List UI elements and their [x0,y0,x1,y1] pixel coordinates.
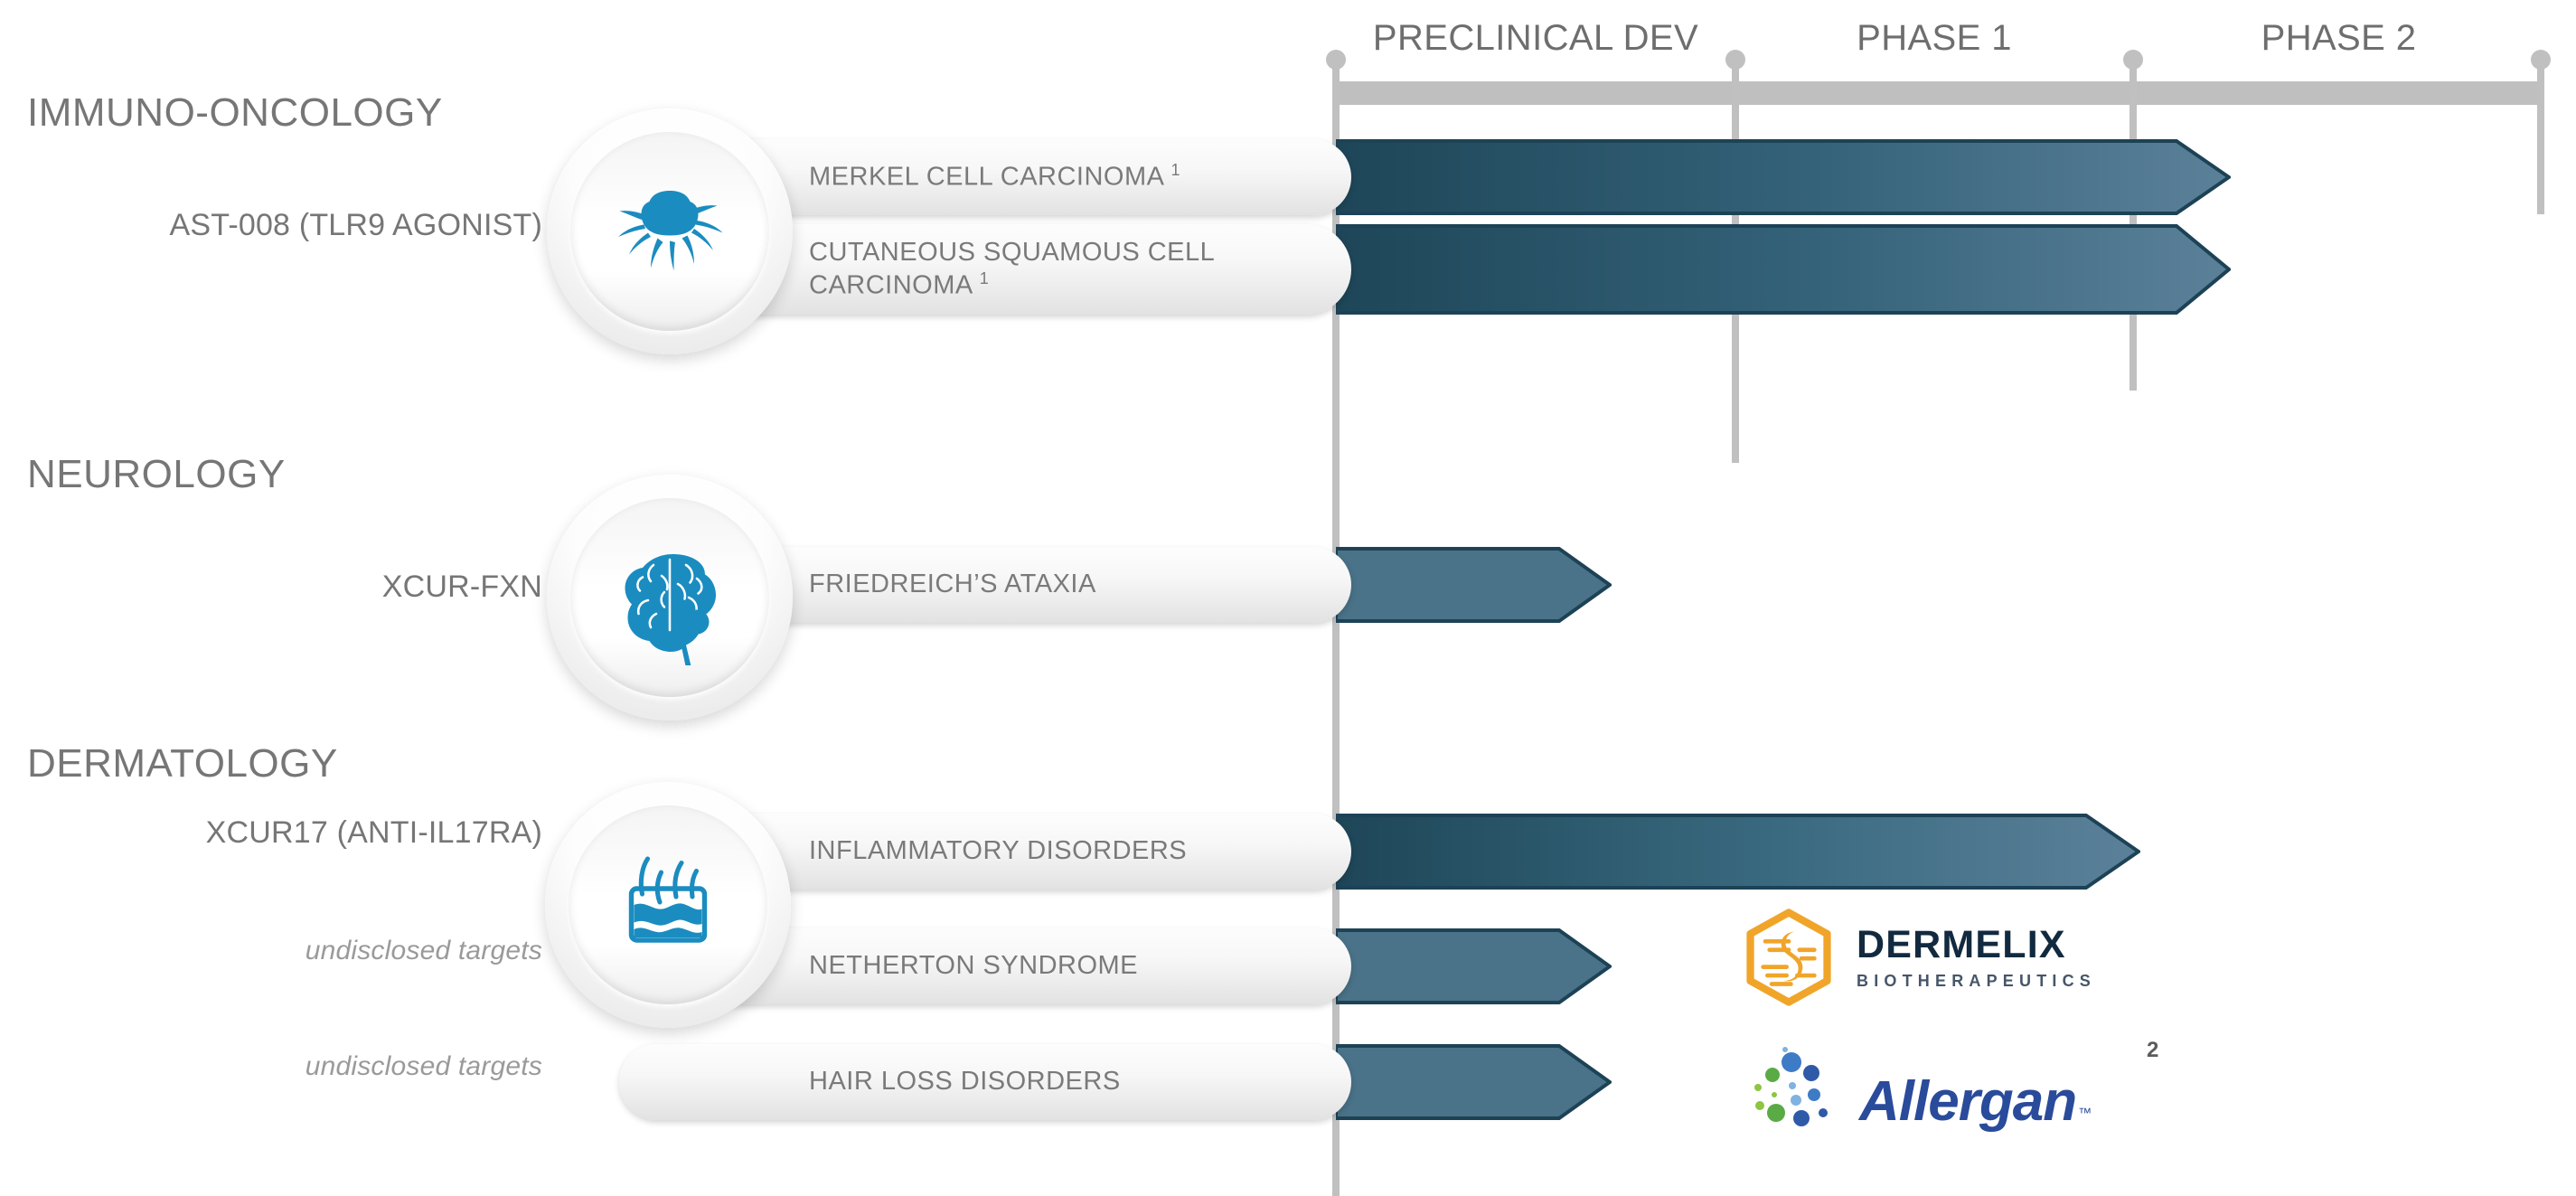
dermelix-name: DERMELIX [1857,926,2096,965]
progress-bar-merkel [1336,139,2231,215]
pipeline-row-hairloss: HAIR LOSS DISORDERS [0,1044,2576,1120]
pipeline-row-netherton: NETHERTON SYNDROME [0,928,2576,1004]
area-title-neurology: NEUROLOGY [27,452,286,497]
partner-logo-dermelix: DERMELIX BIOTHERAPEUTICS [1735,904,2096,1011]
indication-label-merkel: MERKEL CELL CARCINOMA 1 [809,161,1180,193]
pipeline-row-cscc: CUTANEOUS SQUAMOUS CELL CARCINOMA 1 [0,224,2576,315]
indication-pill-hairloss[interactable]: HAIR LOSS DISORDERS [619,1044,1351,1120]
area-title-immuno-oncology: IMMUNO-ONCOLOGY [27,90,443,136]
footnote-marker-allergan: 2 [2147,1038,2158,1063]
pipeline-row-ataxia: FRIEDREICH’S ATAXIA [0,547,2576,623]
gridline-knob-icon [1326,50,1346,70]
gridline-knob-icon [2531,50,2551,70]
indication-label-ataxia: FRIEDREICH’S ATAXIA [809,569,1096,600]
footnote-marker: 1 [980,269,990,287]
pipeline-row-inflammatory: INFLAMMATORY DISORDERS [0,814,2576,890]
phase-track-bar [1336,81,2544,105]
partner-logo-allergan: Allergan ™ [1740,1031,2092,1130]
indication-label-netherton: NETHERTON SYNDROME [809,950,1138,982]
phase-label-phase1: PHASE 1 [1735,16,2133,60]
brain-icon [547,475,793,720]
progress-bar-ataxia [1336,547,1612,623]
allergan-dots-icon [1740,1035,1848,1130]
progress-bar-inflammatory [1336,814,2140,890]
icon-badge-immuno-oncology [547,108,793,354]
progress-bar-netherton [1336,928,1612,1004]
indication-label-cscc: CUTANEOUS SQUAMOUS CELL CARCINOMA 1 [809,237,1215,301]
icon-badge-dermatology [545,782,791,1028]
skin-hair-icon [545,782,791,1028]
phase-label-phase2: PHASE 2 [2133,16,2544,60]
icon-badge-neurology [547,475,793,720]
progress-bar-hairloss [1336,1044,1612,1120]
pipeline-row-merkel: MERKEL CELL CARCINOMA 1 [0,139,2576,215]
area-title-dermatology: DERMATOLOGY [27,741,338,786]
phase-label-preclinical: PRECLINICAL DEV [1336,16,1735,60]
indication-label-hairloss: HAIR LOSS DISORDERS [809,1066,1121,1097]
gridline-knob-icon [1725,50,1745,70]
tumor-cell-icon [547,108,793,354]
footnote-marker: 1 [1170,161,1180,179]
allergan-tm-mark: ™ [2078,1106,2092,1121]
progress-bar-cscc [1336,224,2231,315]
dermelix-hex-icon [1735,904,1842,1011]
indication-label-inflammatory: INFLAMMATORY DISORDERS [809,835,1187,867]
gridline-knob-icon [2123,50,2143,70]
dermelix-tagline: BIOTHERAPEUTICS [1857,973,2096,989]
allergan-name: Allergan [1859,1074,2076,1130]
